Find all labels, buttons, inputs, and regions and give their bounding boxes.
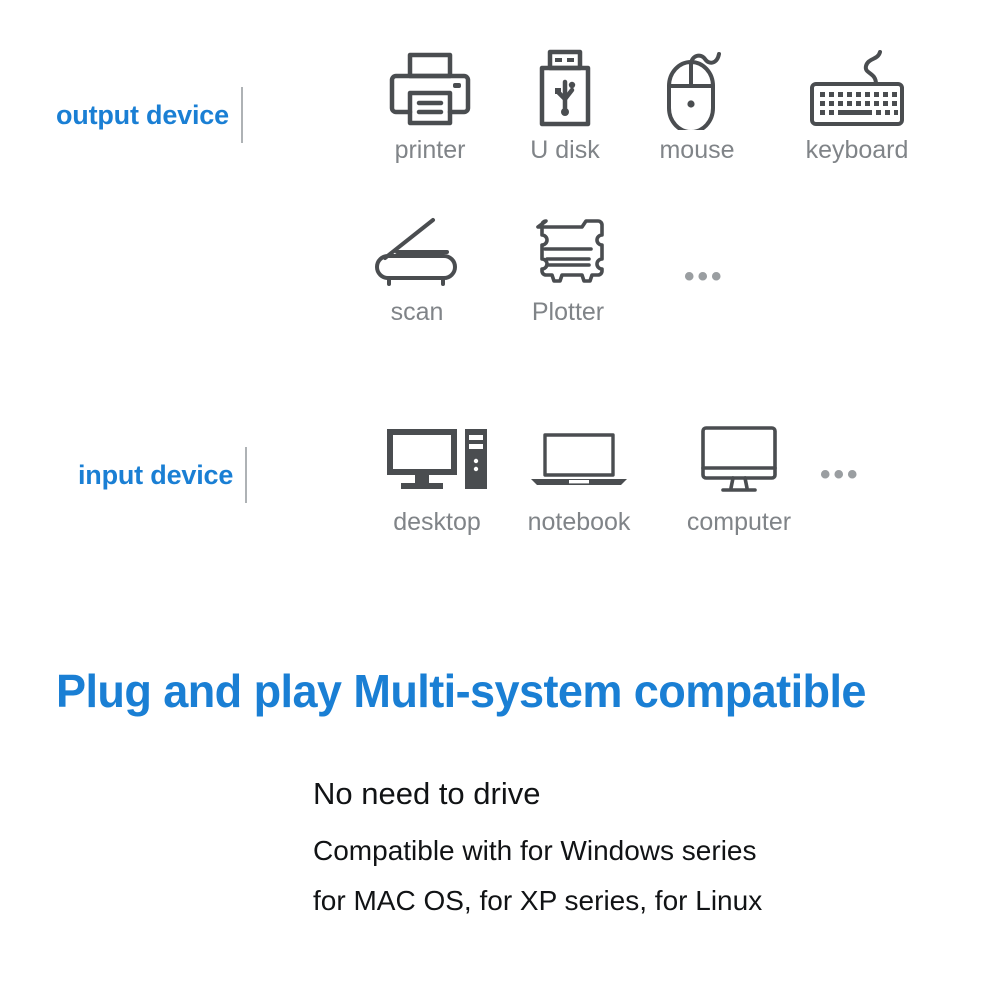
printer-caption: printer <box>395 136 466 165</box>
scan-caption: scan <box>391 298 444 327</box>
body-line-mac-xp-linux: for MAC OS, for XP series, for Linux <box>313 887 953 915</box>
compatibility-text-block: No need to drive Compatible with for Win… <box>313 778 953 937</box>
desktop-computer-icon <box>383 418 491 504</box>
output-label-divider <box>241 87 243 143</box>
usb-disk-icon <box>534 46 596 132</box>
output-device-label-text: output device <box>56 100 229 131</box>
body-line-windows-series: Compatible with for Windows series <box>313 837 953 865</box>
laptop-icon <box>527 418 631 504</box>
input-device-label-text: input device <box>78 460 233 491</box>
printer-icon <box>389 46 471 132</box>
device-item-computer: computer <box>664 418 814 537</box>
page-headline: Plug and play Multi-system compatible <box>56 664 938 718</box>
notebook-caption: notebook <box>528 508 631 537</box>
u-disk-caption: U disk <box>530 136 599 165</box>
input-label-divider <box>245 447 247 503</box>
desktop-caption: desktop <box>393 508 481 537</box>
device-item-mouse: mouse <box>632 46 762 165</box>
category-label-input-device: input device <box>78 452 247 498</box>
device-item-u-disk: U disk <box>500 46 630 165</box>
plotter-icon <box>528 208 608 294</box>
computer-caption: computer <box>687 508 791 537</box>
keyboard-caption: keyboard <box>806 136 909 165</box>
monitor-icon <box>697 418 781 504</box>
device-item-desktop: desktop <box>362 418 512 537</box>
mouse-icon <box>659 46 735 132</box>
input-more-ellipsis: ••• <box>820 460 861 490</box>
device-item-scan: scan <box>352 208 482 327</box>
product-feature-infographic: output device printer <box>0 0 1000 1000</box>
device-item-keyboard: keyboard <box>782 46 932 165</box>
category-label-output-device: output device <box>56 92 243 138</box>
output-more-ellipsis: ••• <box>684 262 725 292</box>
mouse-caption: mouse <box>659 136 734 165</box>
device-item-printer: printer <box>365 46 495 165</box>
plotter-caption: Plotter <box>532 298 604 327</box>
body-line-no-need-to-drive: No need to drive <box>313 778 953 809</box>
device-item-notebook: notebook <box>504 418 654 537</box>
device-item-plotter: Plotter <box>503 208 633 327</box>
keyboard-icon <box>806 46 908 132</box>
scanner-icon <box>371 208 463 294</box>
